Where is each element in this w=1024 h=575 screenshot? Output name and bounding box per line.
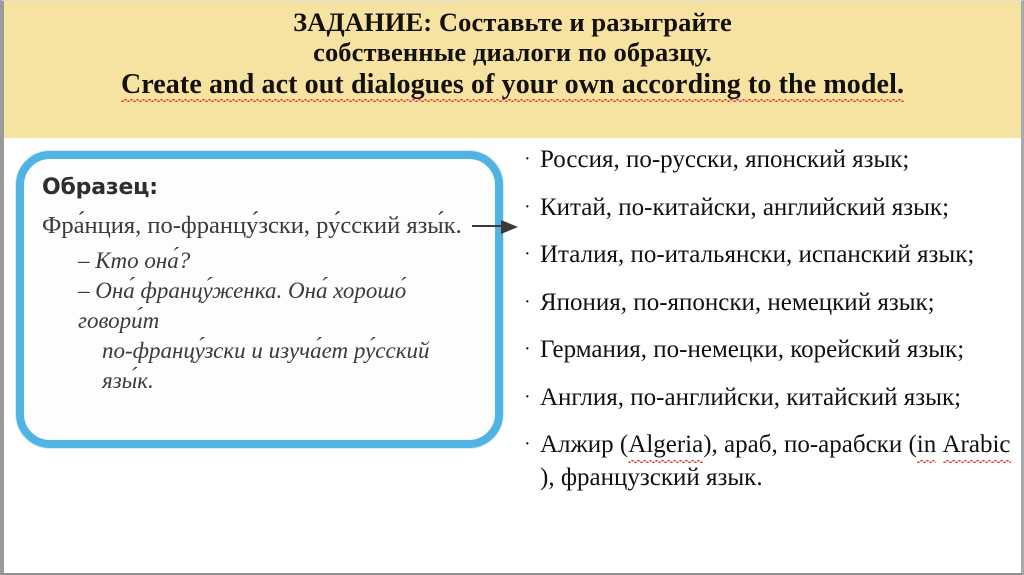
example-prompt-text: Фра́нция, по-францу́зски, ру́сский язы́к… <box>42 212 462 240</box>
header-banner: ЗАДАНИЕ: Составьте и разыграйте собствен… <box>4 1 1021 138</box>
spellcheck-underlined-text: Create and act out dialogues of your own… <box>121 69 904 101</box>
example-card-title: Образец: <box>42 175 479 200</box>
example-dialog-line-2: – Она́ францу́женка. Она́ хорошо́ говори… <box>78 276 479 336</box>
list-item-label: Китай, по-китайски, английский язык; <box>540 192 949 225</box>
example-dialog-line-2-continued: по-францу́зски и изуча́ет ру́сский язы́к… <box>102 336 479 396</box>
list-item: · Италия, по-итальянски, испанский язык; <box>524 239 1016 272</box>
header-line-3-english: Create and act out dialogues of your own… <box>121 69 904 101</box>
bullet-icon: · <box>524 429 540 457</box>
list-item-label-algeria: Алжир (Algeria), араб, по-арабски (in Ar… <box>540 429 1016 494</box>
spellcheck-underlined-word: Algeria <box>628 429 703 462</box>
list-item: · Япония, по-японски, немецкий язык; <box>524 287 1016 320</box>
list-item: · Россия, по-русски, японский язык; <box>524 144 1016 177</box>
slide-canvas: ЗАДАНИЕ: Составьте и разыграйте собствен… <box>0 0 1024 575</box>
example-prompt-row: Фра́нция, по-францу́зски, ру́сский язы́к… <box>42 212 479 240</box>
spellcheck-underlined-word: Arabic <box>943 429 1011 462</box>
bullet-icon: · <box>524 239 540 267</box>
bullet-icon: · <box>524 382 540 410</box>
arrow-right-icon <box>472 219 518 233</box>
list-item-label: Англия, по-английски, китайский язык; <box>540 382 961 415</box>
example-dialog: – Кто она́? – Она́ францу́женка. Она́ хо… <box>78 246 479 395</box>
list-item-label: Италия, по-итальянски, испанский язык; <box>540 239 974 272</box>
bullet-icon: · <box>524 192 540 220</box>
header-line-2: собственные диалоги по образцу. <box>313 37 712 67</box>
task-list: · Россия, по-русски, японский язык; · Ки… <box>524 144 1016 509</box>
header-line-1: ЗАДАНИЕ: Составьте и разыграйте <box>293 7 732 37</box>
list-item-label: Япония, по-японски, немецкий язык; <box>540 287 935 320</box>
list-item-algeria-text: Алжир (Algeria), араб, по-арабски (in Ar… <box>540 431 1011 491</box>
list-item-label: Германия, по-немецки, корейский язык; <box>540 334 964 367</box>
example-card: Образец: Фра́нция, по-францу́зски, ру́сс… <box>16 151 503 448</box>
example-dialog-line-1: – Кто она́? <box>78 246 479 276</box>
list-item-label: Россия, по-русски, японский язык; <box>540 144 909 177</box>
list-item: · Англия, по-английски, китайский язык; <box>524 382 1016 415</box>
list-item: · Китай, по-китайски, английский язык; <box>524 192 1016 225</box>
spellcheck-underlined-word: in <box>917 429 936 462</box>
bullet-icon: · <box>524 287 540 315</box>
list-item: · Алжир (Algeria), араб, по-арабски (in … <box>524 429 1016 494</box>
bullet-icon: · <box>524 334 540 362</box>
bullet-icon: · <box>524 144 540 172</box>
list-item: · Германия, по-немецки, корейский язык; <box>524 334 1016 367</box>
